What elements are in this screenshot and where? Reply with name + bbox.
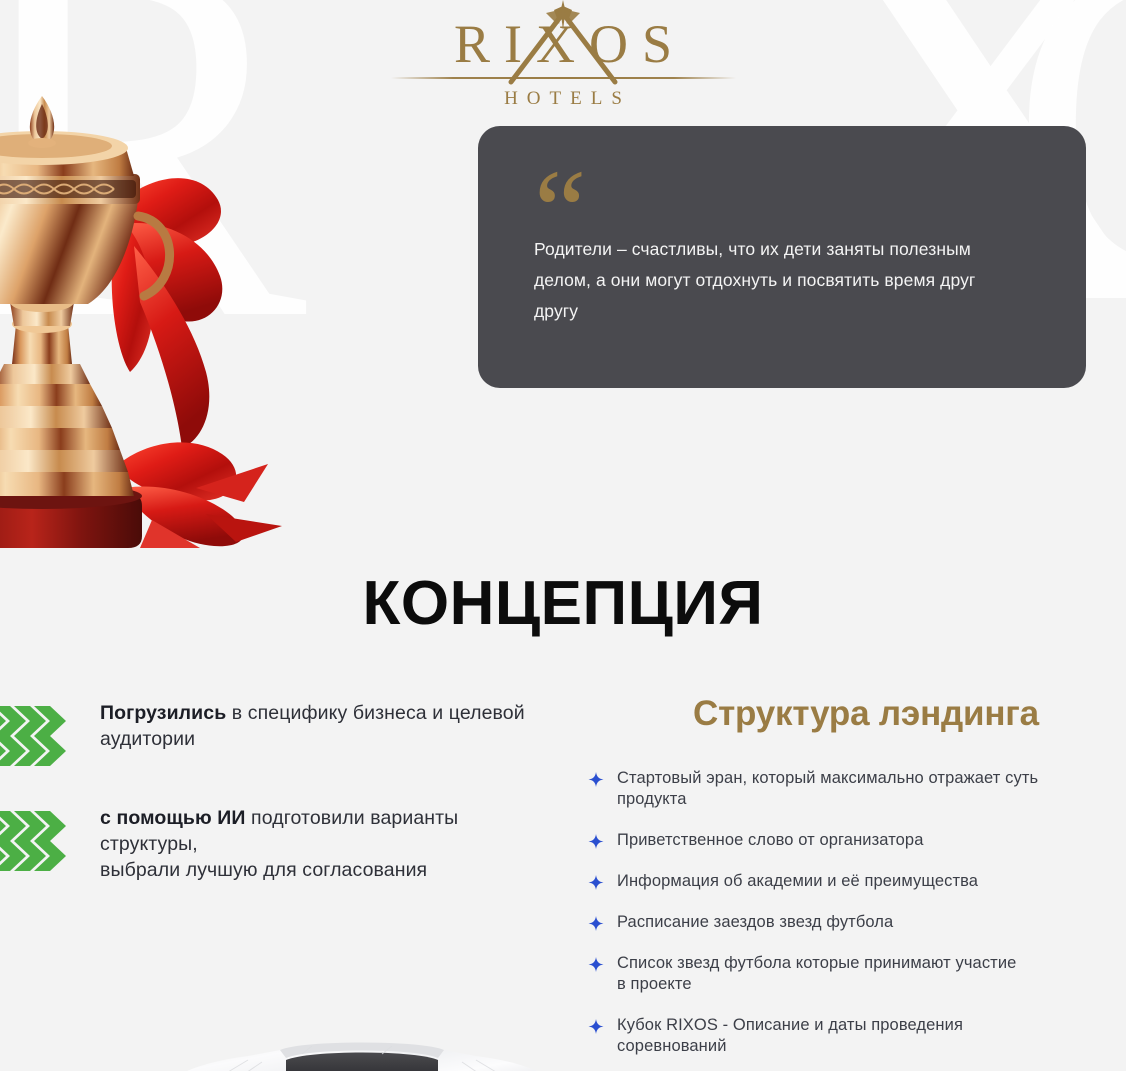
green-chevrons-icon (0, 704, 76, 766)
sparkle-star-icon (585, 957, 607, 972)
structure-section: Структура лэндинга Стартовый эран, котор… (585, 694, 1126, 1071)
list-item: Расписание заездов звезд футбола (585, 912, 1126, 933)
list-item-label: Информация об академии и её преимущества (617, 871, 978, 892)
sparkle-star-icon (585, 834, 607, 849)
structure-bullet-list: Стартовый эран, который максимально отра… (585, 768, 1126, 1057)
list-item-label: Приветственное слово от организатора (617, 830, 924, 851)
list-item: Информация об академии и её преимущества (585, 871, 1126, 892)
list-item: Приветственное слово от организатора (585, 830, 1126, 851)
structure-title: Структура лэндинга (585, 694, 1126, 734)
list-item-label: Кубок RIXOS - Описание и даты проведения… (617, 1015, 1032, 1057)
jersey-illustration (152, 1036, 572, 1071)
feature-text: Погрузились в специфику бизнеса и целево… (76, 700, 560, 752)
slide-page: RIXOS HOTELS (0, 0, 1126, 1071)
page-title: КОНЦЕПЦИЯ (0, 568, 1126, 639)
trophy-illustration (0, 96, 333, 548)
logo-subtext: HOTELS (0, 88, 1126, 110)
sparkle-star-icon (585, 916, 607, 931)
logo-crown-icon (543, 0, 583, 30)
feature-bold-text: с помощью ИИ (100, 807, 246, 829)
list-item: Список звезд футбола которые принимают у… (585, 953, 1126, 995)
green-chevrons-icon (0, 809, 76, 871)
quote-text: Родители – счастливы, что их дети заняты… (534, 234, 1004, 327)
feature-bold-text: Погрузились (100, 702, 226, 724)
list-item: Стартовый эран, который максимально отра… (585, 768, 1126, 810)
sparkle-star-icon (585, 1019, 607, 1034)
feature-item: Погрузились в специфику бизнеса и целево… (0, 700, 560, 766)
sparkle-star-icon (585, 875, 607, 890)
list-item: Кубок RIXOS - Описание и даты проведения… (585, 1015, 1126, 1057)
list-item-label: Расписание заездов звезд футбола (617, 912, 893, 933)
quote-card: “ Родители – счастливы, что их дети заня… (478, 126, 1086, 388)
list-item-label: Список звезд футбола которые принимают у… (617, 953, 1017, 995)
feature-text: с помощью ИИ подготовили варианты структ… (76, 805, 560, 883)
features-list: Погрузились в специфику бизнеса и целево… (0, 700, 560, 922)
feature-item: с помощью ИИ подготовили варианты структ… (0, 805, 560, 883)
logo-wordmark: RIXOS (440, 16, 686, 73)
rixos-logo: RIXOS HOTELS (0, 16, 1126, 110)
list-item-label: Стартовый эран, который максимально отра… (617, 768, 1047, 810)
sparkle-star-icon (585, 772, 607, 787)
